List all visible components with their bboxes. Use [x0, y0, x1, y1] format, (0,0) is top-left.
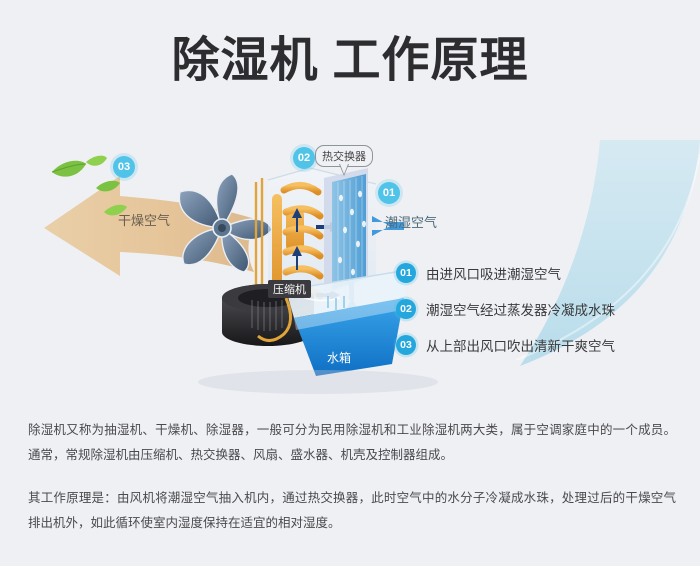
body-paragraph-2: 其工作原理是：由风机将潮湿空气抽入机内，通过热交换器，此时空气中的水分子冷凝成水…	[28, 486, 676, 536]
legend-list: 01 由进风口吸进潮湿空气 02 潮湿空气经过蒸发器冷凝成水珠 03 从上部出风…	[396, 255, 696, 363]
ground-shadow	[198, 370, 438, 394]
diagram-badge-02: 02	[293, 147, 315, 169]
legend-item-02: 02 潮湿空气经过蒸发器冷凝成水珠	[396, 291, 696, 327]
label-humid-air: 潮湿空气	[385, 212, 437, 231]
legend-item-03: 03 从上部出风口吹出清新干爽空气	[396, 327, 696, 363]
legend-badge-03: 03	[396, 335, 416, 355]
legend-text-03: 从上部出风口吹出清新干爽空气	[426, 335, 615, 355]
legend-badge-02: 02	[396, 299, 416, 319]
infographic-page: 除湿机工作原理	[0, 0, 700, 566]
legend-text-02: 潮湿空气经过蒸发器冷凝成水珠	[426, 299, 615, 319]
evaporator-fins	[324, 168, 368, 294]
body-text: 除湿机又称为抽湿机、干燥机、除湿器，一般可分为民用除湿机和工业除湿机两大类，属于…	[28, 418, 676, 554]
label-dry-air: 干燥空气	[118, 210, 170, 229]
legend-text-01: 由进风口吸进潮湿空气	[426, 263, 561, 283]
callout-tail-icon	[339, 164, 349, 176]
diagram-badge-03: 03	[113, 156, 135, 178]
page-title: 除湿机工作原理	[0, 30, 700, 92]
title-part-2: 工作原理	[333, 34, 529, 87]
legend-item-01: 01 由进风口吸进潮湿空气	[396, 255, 696, 291]
title-part-1: 除湿机	[171, 34, 318, 87]
body-paragraph-1: 除湿机又称为抽湿机、干燥机、除湿器，一般可分为民用除湿机和工业除湿机两大类，属于…	[28, 418, 676, 468]
label-compressor: 压缩机	[268, 280, 311, 298]
legend-badge-01: 01	[396, 263, 416, 283]
diagram-badge-01: 01	[378, 182, 400, 204]
label-water-tank: 水箱	[322, 348, 356, 367]
